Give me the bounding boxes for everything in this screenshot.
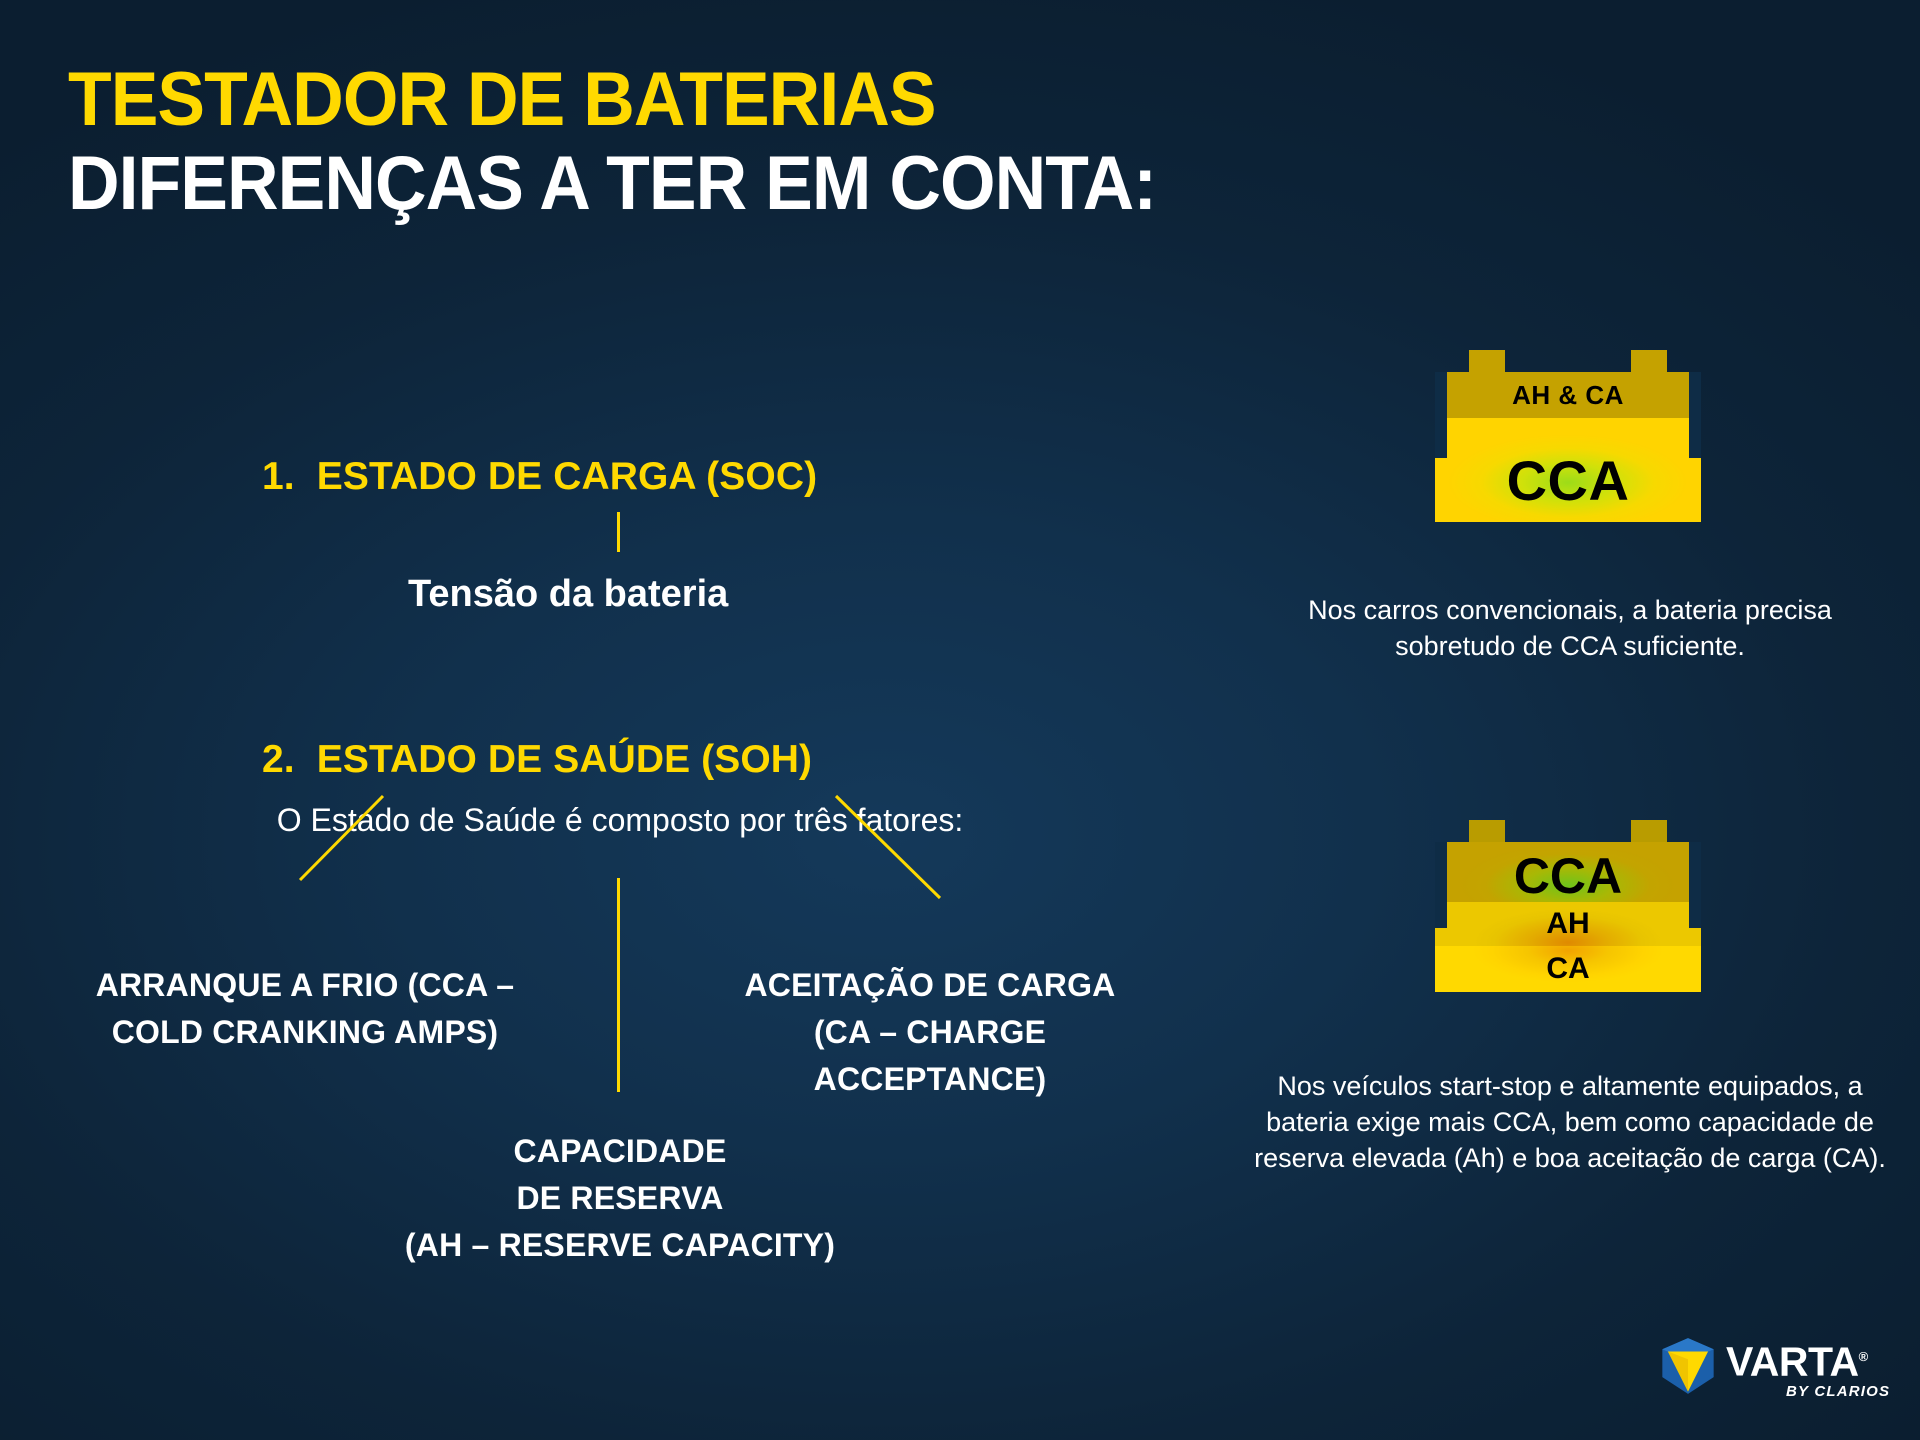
battery-band-ah: AH [1435,902,1701,946]
battery-band-cca-label: CCA [1514,847,1622,905]
right-illustration-column: AH & CA CCA Nos carros convencionais, a … [1220,0,1920,1440]
connector-right-diagonal [836,796,940,898]
battery-body: CCA AH CA [1435,842,1701,992]
battery-body: AH & CA CCA [1435,372,1701,522]
battery-band-cca: CCA [1435,842,1701,902]
battery-icon-startstop: CCA AH CA [1435,820,1701,992]
caption-conventional: Nos carros convencionais, a bateria prec… [1305,592,1835,664]
battery-band-cca-label: CCA [1507,448,1630,513]
caption-startstop: Nos veículos start-stop e altamente equi… [1240,1068,1900,1176]
factor-charge-acceptance: ACEITAÇÃO DE CARGA (CA – CHARGE ACCEPTAN… [700,962,1160,1103]
registered-mark: ® [1859,1349,1868,1364]
battery-notch-left [1435,372,1447,458]
infographic-canvas: TESTADOR DE BATERIAS DIFERENÇAS A TER EM… [0,0,1920,1440]
factor-cold-cranking-line1: ARRANQUE A FRIO (CCA – [20,962,590,1009]
battery-terminal-left [1469,820,1505,842]
factor-cold-cranking: ARRANQUE A FRIO (CCA – COLD CRANKING AMP… [20,962,590,1056]
factor-charge-acceptance-line2: (CA – CHARGE [700,1009,1160,1056]
factor-reserve-capacity-line2: DE RESERVA [330,1175,910,1222]
battery-notch-right [1689,842,1701,928]
factor-reserve-capacity-line3: (AH – RESERVE CAPACITY) [330,1222,910,1269]
battery-band-ca-label: CA [1546,952,1589,986]
connector-left-diagonal [300,796,383,880]
battery-terminal-right [1631,820,1667,842]
battery-notch-right [1689,372,1701,458]
factor-reserve-capacity: CAPACIDADE DE RESERVA (AH – RESERVE CAPA… [330,1128,910,1269]
battery-terminal-right [1631,350,1667,372]
connector-middle-vertical [617,878,620,1092]
factor-charge-acceptance-line1: ACEITAÇÃO DE CARGA [700,962,1160,1009]
factor-cold-cranking-line2: COLD CRANKING AMPS) [20,1009,590,1056]
battery-band-ah-ca: AH & CA [1435,372,1701,418]
varta-logo: VARTA® BY CLARIOS [1660,1335,1890,1409]
varta-cube-icon [1660,1337,1716,1395]
varta-brand-text: VARTA [1726,1339,1859,1385]
battery-band-ca: CA [1435,946,1701,992]
battery-icon-conventional: AH & CA CCA [1435,350,1701,522]
battery-band-ah-ca-label: AH & CA [1512,380,1624,411]
factor-reserve-capacity-line1: CAPACIDADE [330,1128,910,1175]
battery-band-cca: CCA [1435,418,1701,522]
left-content-column: 1.ESTADO DE CARGA (SOC) Tensão da bateri… [0,0,1180,1440]
factor-charge-acceptance-line3: ACCEPTANCE) [700,1056,1160,1103]
battery-band-ah-label: AH [1546,907,1589,941]
varta-wordmark: VARTA® [1726,1335,1868,1384]
battery-terminal-left [1469,350,1505,372]
varta-tagline: BY CLARIOS [1786,1383,1890,1400]
battery-notch-left [1435,842,1447,928]
